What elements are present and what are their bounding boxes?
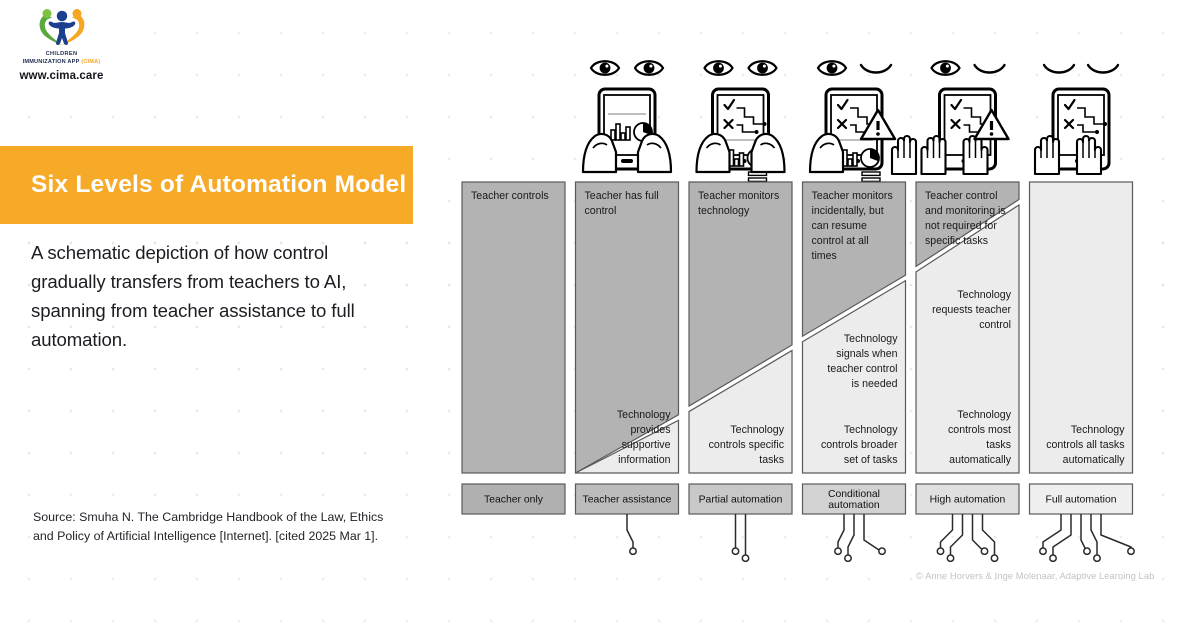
- level-label-text-col-2: Partial automation: [699, 495, 783, 506]
- technology-extra-text-col-3-line: Technology: [844, 333, 898, 345]
- technology-text-col-2-line: tasks: [759, 454, 784, 466]
- column-body-4: Teacher controland monitoring isnot requ…: [916, 182, 1019, 473]
- circuit-node: [835, 548, 841, 554]
- bar-chart-bar: [740, 153, 744, 166]
- flow-node: [755, 130, 759, 134]
- eye-right-col-5: [1088, 65, 1118, 73]
- flow-node: [1103, 122, 1107, 126]
- column-body-5: Technologycontrols all tasksautomaticall…: [1030, 182, 1133, 473]
- level-label-col-4: High automation: [916, 484, 1019, 514]
- bar-chart-bar: [853, 153, 857, 166]
- eye-closed: [861, 65, 891, 73]
- circuit-branches-col-4: [937, 514, 997, 561]
- illustration-col-1: [583, 61, 671, 172]
- technology-text-col-5-line: Technology: [1071, 424, 1125, 436]
- circuit-node: [630, 548, 636, 554]
- technology-text-col-4-line: controls most: [948, 424, 1011, 436]
- circuit-branches-col-5: [1040, 514, 1134, 561]
- source-citation: Source: Smuha N. The Cambridge Handbook …: [33, 508, 405, 545]
- logo-line-immunization-app: IMMUNIZATION APP (CIMA): [23, 58, 101, 66]
- teacher-text-col-4-line: not required for: [925, 220, 997, 232]
- eye-closed: [1044, 65, 1074, 73]
- circuit-node: [991, 555, 997, 561]
- technology-extra-text-col-3-line: signals when: [836, 348, 897, 360]
- circuit-trace: [838, 514, 844, 548]
- teacher-text-col-4-line: specific tasks: [925, 235, 988, 247]
- level-label-text-col-1: Teacher assistance: [583, 495, 672, 506]
- diagram-credit: © Anne Horvers & Inge Molenaar, Adaptive…: [916, 570, 1154, 581]
- level-label-text-col-4: High automation: [930, 495, 1006, 506]
- eye-closed: [975, 65, 1005, 73]
- warning-dot: [876, 132, 880, 136]
- circuit-branches-col-2: [732, 514, 748, 561]
- circuit-trace: [864, 514, 882, 552]
- circuit-branches-col-3: [835, 514, 885, 561]
- logo-website-url: www.cima.care: [20, 70, 104, 82]
- circuit-node: [1040, 548, 1046, 554]
- circuit-trace: [1101, 514, 1131, 548]
- eye-right-col-2: [749, 61, 777, 75]
- eye-glint: [605, 65, 608, 68]
- teacher-zone-col-0: [462, 182, 565, 473]
- eye-right-col-4: [975, 65, 1005, 73]
- bar-chart-bar: [616, 124, 620, 140]
- eye-pupil: [827, 63, 838, 74]
- eye-pupil: [757, 63, 768, 74]
- teacher-text-col-3-line: control at all: [812, 235, 869, 247]
- technology-text-col-1-line: Technology: [617, 409, 671, 421]
- teacher-text-col-2-line: technology: [698, 205, 750, 217]
- eye-pupil: [600, 63, 611, 74]
- flow-node: [763, 122, 767, 126]
- eye-left-col-4: [932, 61, 960, 75]
- technology-text-col-2-line: Technology: [730, 424, 784, 436]
- legend-bar: [862, 178, 880, 181]
- logo-line2-main: IMMUNIZATION APP: [23, 59, 82, 65]
- warning-bar: [990, 121, 993, 130]
- level-label-text-col-5: Full automation: [1045, 495, 1116, 506]
- technology-text-col-2-line: controls specific: [709, 439, 785, 451]
- teacher-text-col-3-line: can resume: [812, 220, 867, 232]
- illustration-col-4: [922, 61, 1009, 174]
- circuit-node: [937, 548, 943, 554]
- bar-chart-bar: [621, 133, 625, 140]
- title-banner: Six Levels of Automation Model: [0, 146, 413, 224]
- technology-text-col-5-line: controls all tasks: [1046, 439, 1124, 451]
- circuit-node: [1084, 548, 1090, 554]
- hand-palm: [697, 134, 730, 172]
- hand-left-col-2: [697, 134, 730, 172]
- column-body-2: Teacher monitorstechnologyTechnologycont…: [689, 182, 792, 473]
- logo-line2-accent: (CIMA): [81, 59, 100, 65]
- teacher-text-col-1-line: control: [585, 205, 617, 217]
- technology-text-col-3-line: Technology: [844, 424, 898, 436]
- circuit-trace: [1081, 514, 1087, 552]
- cima-logo-icon: [35, 7, 89, 47]
- level-label-text-col-0: Teacher only: [484, 495, 544, 506]
- level-label-col-3: Conditionalautomation: [803, 484, 906, 514]
- legend-bar: [749, 178, 767, 181]
- logo-line-children: CHILDREN: [46, 50, 78, 58]
- eye-glint: [649, 65, 652, 68]
- technology-extra-text-col-4-line: requests teacher: [932, 304, 1011, 316]
- flow-node: [1095, 130, 1099, 134]
- level-label-col-0: Teacher only: [462, 484, 565, 514]
- eye-glint: [832, 65, 835, 68]
- eye-left-col-3: [818, 61, 846, 75]
- tablet-home-button-col-1: [621, 159, 633, 163]
- warning-dot: [990, 132, 994, 136]
- eye-left-col-5: [1044, 65, 1074, 73]
- illustration-col-2: [697, 61, 785, 181]
- circuit-node: [845, 555, 851, 561]
- automation-levels-diagram: Teacher controlsTeacher onlyTeacher has …: [455, 48, 1175, 593]
- teacher-text-col-3-line: times: [812, 250, 837, 262]
- teacher-text-col-0: Teacher controls: [471, 190, 549, 202]
- circuit-trace: [1053, 514, 1071, 555]
- technology-text-col-1-line: provides: [630, 424, 670, 436]
- hand-left-col-3: [810, 134, 843, 172]
- technology-extra-text-col-3-line: is needed: [852, 378, 898, 390]
- eye-left-col-1: [591, 61, 619, 75]
- hand-palm: [810, 134, 843, 172]
- eye-pupil: [940, 63, 951, 74]
- level-label-col-1: Teacher assistance: [576, 484, 679, 514]
- hand-palm: [583, 134, 616, 172]
- bar-chart-bar: [735, 159, 739, 166]
- eye-right-col-1: [635, 61, 663, 75]
- circuit-node: [1128, 548, 1134, 554]
- technology-extra-text-col-4-line: Technology: [957, 289, 1011, 301]
- technology-extra-text-col-4-line: control: [979, 319, 1011, 331]
- technology-text-col-4-line: Technology: [957, 409, 1011, 421]
- technology-text-col-1-line: information: [618, 454, 671, 466]
- legend-bar: [862, 172, 880, 175]
- technology-text-col-1-line: supportive: [622, 439, 671, 451]
- teacher-text-col-4-line: and monitoring is: [925, 205, 1006, 217]
- teacher-text-col-4-line: Teacher control: [925, 190, 997, 202]
- eye-left-col-2: [705, 61, 733, 75]
- eye-glint: [719, 65, 722, 68]
- diagram-canvas: Teacher controlsTeacher onlyTeacher has …: [455, 48, 1175, 593]
- technology-text-col-4-line: tasks: [986, 439, 1011, 451]
- hand-left-col-1: [583, 134, 616, 172]
- column-body-1: Teacher has fullcontrolTechnologyprovide…: [576, 182, 679, 473]
- circuit-trace: [941, 514, 953, 548]
- level-label-text-col-3: automation: [828, 500, 880, 511]
- eye-closed: [1088, 65, 1118, 73]
- column-body-3: Teacher monitorsincidentally, butcan res…: [803, 182, 906, 473]
- teacher-text-col-0-line: Teacher controls: [471, 190, 549, 202]
- circuit-trace: [848, 514, 854, 555]
- circuit-node: [742, 555, 748, 561]
- eye-pupil: [644, 63, 655, 74]
- technology-text-col-3-line: set of tasks: [844, 454, 898, 466]
- hand-left-col-5: [1035, 136, 1059, 174]
- hand-right-col-3: [892, 136, 916, 174]
- teacher-text-col-2-line: Teacher monitors: [698, 190, 779, 202]
- eye-glint: [946, 65, 949, 68]
- hand-palm: [638, 134, 671, 172]
- eye-glint: [763, 65, 766, 68]
- column-body-0: Teacher controls: [462, 182, 565, 473]
- technology-text-col-4-line: automatically: [949, 454, 1012, 466]
- circuit-trace: [627, 514, 633, 548]
- description-text: A schematic depiction of how control gra…: [31, 238, 403, 354]
- hand-palm: [752, 134, 785, 172]
- circuit-node: [1094, 555, 1100, 561]
- technology-extra-text-col-3-line: teacher control: [827, 363, 897, 375]
- hand-right-col-2: [752, 134, 785, 172]
- circuit-node: [1050, 555, 1056, 561]
- circuit-trace: [1091, 514, 1097, 555]
- teacher-text-col-1-line: Teacher has full: [585, 190, 659, 202]
- bar-chart-bar: [626, 127, 630, 140]
- brand-logo-badge: CHILDREN IMMUNIZATION APP (CIMA) www.cim…: [0, 0, 123, 103]
- illustration-col-5: [1035, 65, 1118, 174]
- warning-bar: [876, 121, 879, 130]
- bar-chart-bar: [848, 159, 852, 166]
- hand-left-col-4: [922, 136, 946, 174]
- technology-text-col-5-line: automatically: [1063, 454, 1126, 466]
- hand-right-col-1: [638, 134, 671, 172]
- page-title: Six Levels of Automation Model: [31, 171, 406, 199]
- circuit-node: [879, 548, 885, 554]
- eye-pupil: [713, 63, 724, 74]
- technology-text-col-3-line: controls broader: [821, 439, 898, 451]
- level-label-col-5: Full automation: [1030, 484, 1133, 514]
- circuit-node: [947, 555, 953, 561]
- level-label-col-2: Partial automation: [689, 484, 792, 514]
- circuit-node: [981, 548, 987, 554]
- eye-right-col-3: [861, 65, 891, 73]
- circuit-node: [732, 548, 738, 554]
- circuit-branches-col-1: [627, 514, 636, 554]
- teacher-text-col-3-line: incidentally, but: [812, 205, 884, 217]
- level-label-text-col-3: Conditional: [828, 489, 880, 500]
- teacher-text-col-3-line: Teacher monitors: [812, 190, 893, 202]
- illustration-col-3: [810, 61, 916, 181]
